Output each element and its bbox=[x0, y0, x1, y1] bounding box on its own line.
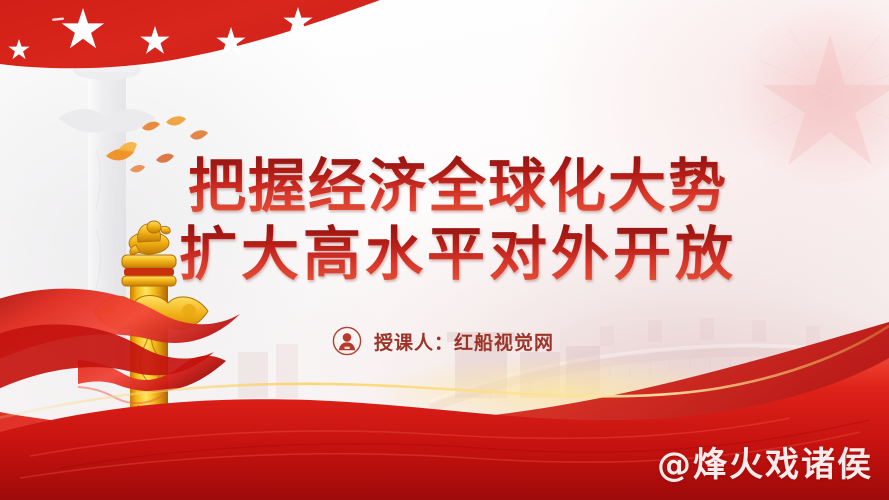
watermark-text: @烽火戏诸侯 bbox=[657, 437, 873, 486]
person-icon bbox=[332, 326, 362, 356]
star-burst-motif bbox=[735, 0, 889, 190]
slide-title: 把握经济全球化大势 扩大高水平对外开放 bbox=[178, 152, 738, 288]
presenter-line: 授课人：红船视觉网 bbox=[332, 326, 554, 356]
title-line-2: 扩大高水平对外开放 bbox=[178, 220, 738, 288]
presenter-text: 授课人：红船视觉网 bbox=[374, 328, 554, 355]
ghost-huabiao-motif bbox=[58, 17, 156, 370]
title-line-1: 把握经济全球化大势 bbox=[178, 152, 738, 220]
slide-canvas: 把握经济全球化大势 扩大高水平对外开放 授课人：红船视觉网 @烽火戏诸侯 bbox=[0, 0, 889, 500]
